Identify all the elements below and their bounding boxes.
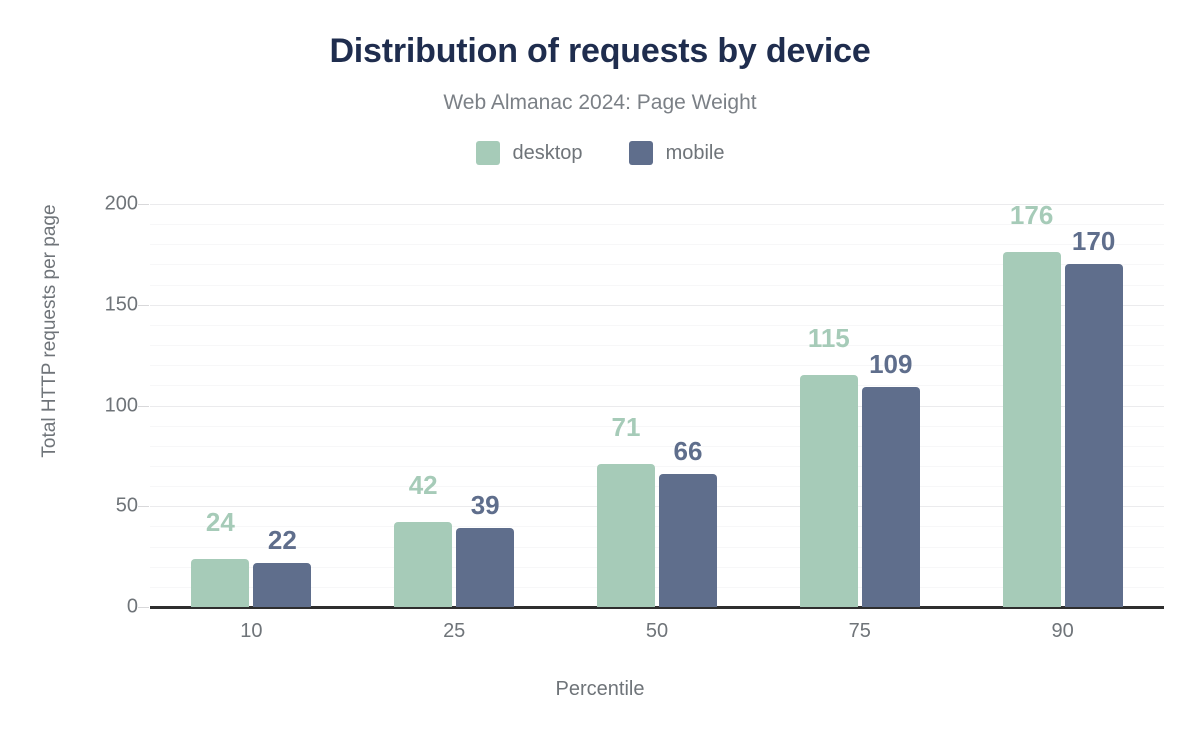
chart-subtitle: Web Almanac 2024: Page Weight — [0, 91, 1200, 115]
legend-item-mobile[interactable]: mobile — [629, 141, 725, 165]
bar-value-label-mobile-10: 22 — [268, 525, 297, 556]
page-title: Distribution of requests by device — [0, 32, 1200, 71]
bar-desktop-25[interactable] — [394, 522, 452, 607]
bar-desktop-10[interactable] — [191, 559, 249, 607]
y-axis-tick-mark — [138, 607, 149, 608]
y-axis-tick-mark — [138, 406, 149, 407]
chart-legend: desktopmobile — [0, 141, 1200, 165]
gridline — [150, 244, 1164, 245]
bar-mobile-25[interactable] — [456, 528, 514, 607]
bar-value-label-mobile-75: 109 — [869, 349, 912, 380]
y-axis-tick-mark — [138, 305, 149, 306]
legend-label-mobile: mobile — [666, 142, 725, 165]
y-axis-tick-label: 150 — [18, 293, 138, 316]
legend-swatch-mobile — [629, 141, 653, 165]
bar-mobile-10[interactable] — [253, 563, 311, 607]
legend-swatch-desktop — [476, 141, 500, 165]
bar-value-label-mobile-50: 66 — [674, 436, 703, 467]
bar-value-label-desktop-75: 115 — [808, 323, 850, 354]
bar-value-label-desktop-25: 42 — [409, 470, 438, 501]
bar-value-label-mobile-90: 170 — [1072, 226, 1115, 257]
x-axis-tick-label-90: 90 — [983, 620, 1143, 643]
y-axis-tick-label: 100 — [18, 394, 138, 417]
bar-mobile-75[interactable] — [862, 387, 920, 607]
bar-mobile-90[interactable] — [1065, 264, 1123, 607]
bar-value-label-desktop-10: 24 — [206, 507, 235, 538]
x-axis-tick-label-10: 10 — [171, 620, 331, 643]
x-axis-tick-label-25: 25 — [374, 620, 534, 643]
x-axis-tick-label-75: 75 — [780, 620, 940, 643]
bar-value-label-desktop-50: 71 — [612, 412, 641, 443]
bar-value-label-mobile-25: 39 — [471, 490, 500, 521]
bar-mobile-50[interactable] — [659, 474, 717, 607]
legend-item-desktop[interactable]: desktop — [476, 141, 583, 165]
x-axis-tick-label-50: 50 — [577, 620, 737, 643]
bar-desktop-75[interactable] — [800, 375, 858, 607]
y-axis-tick-label: 0 — [18, 596, 138, 619]
y-axis-title: Total HTTP requests per page — [39, 81, 61, 581]
y-axis-tick-label: 50 — [18, 495, 138, 518]
bar-desktop-90[interactable] — [1003, 252, 1061, 607]
y-axis-tick-mark — [138, 506, 149, 507]
legend-label-desktop: desktop — [513, 142, 583, 165]
y-axis-tick-mark — [138, 204, 149, 205]
chart-figure: Distribution of requests by device Web A… — [0, 0, 1200, 742]
y-axis-tick-label: 200 — [18, 193, 138, 216]
bar-value-label-desktop-90: 176 — [1010, 200, 1053, 231]
bar-desktop-50[interactable] — [597, 464, 655, 607]
x-axis-title: Percentile — [0, 678, 1200, 701]
